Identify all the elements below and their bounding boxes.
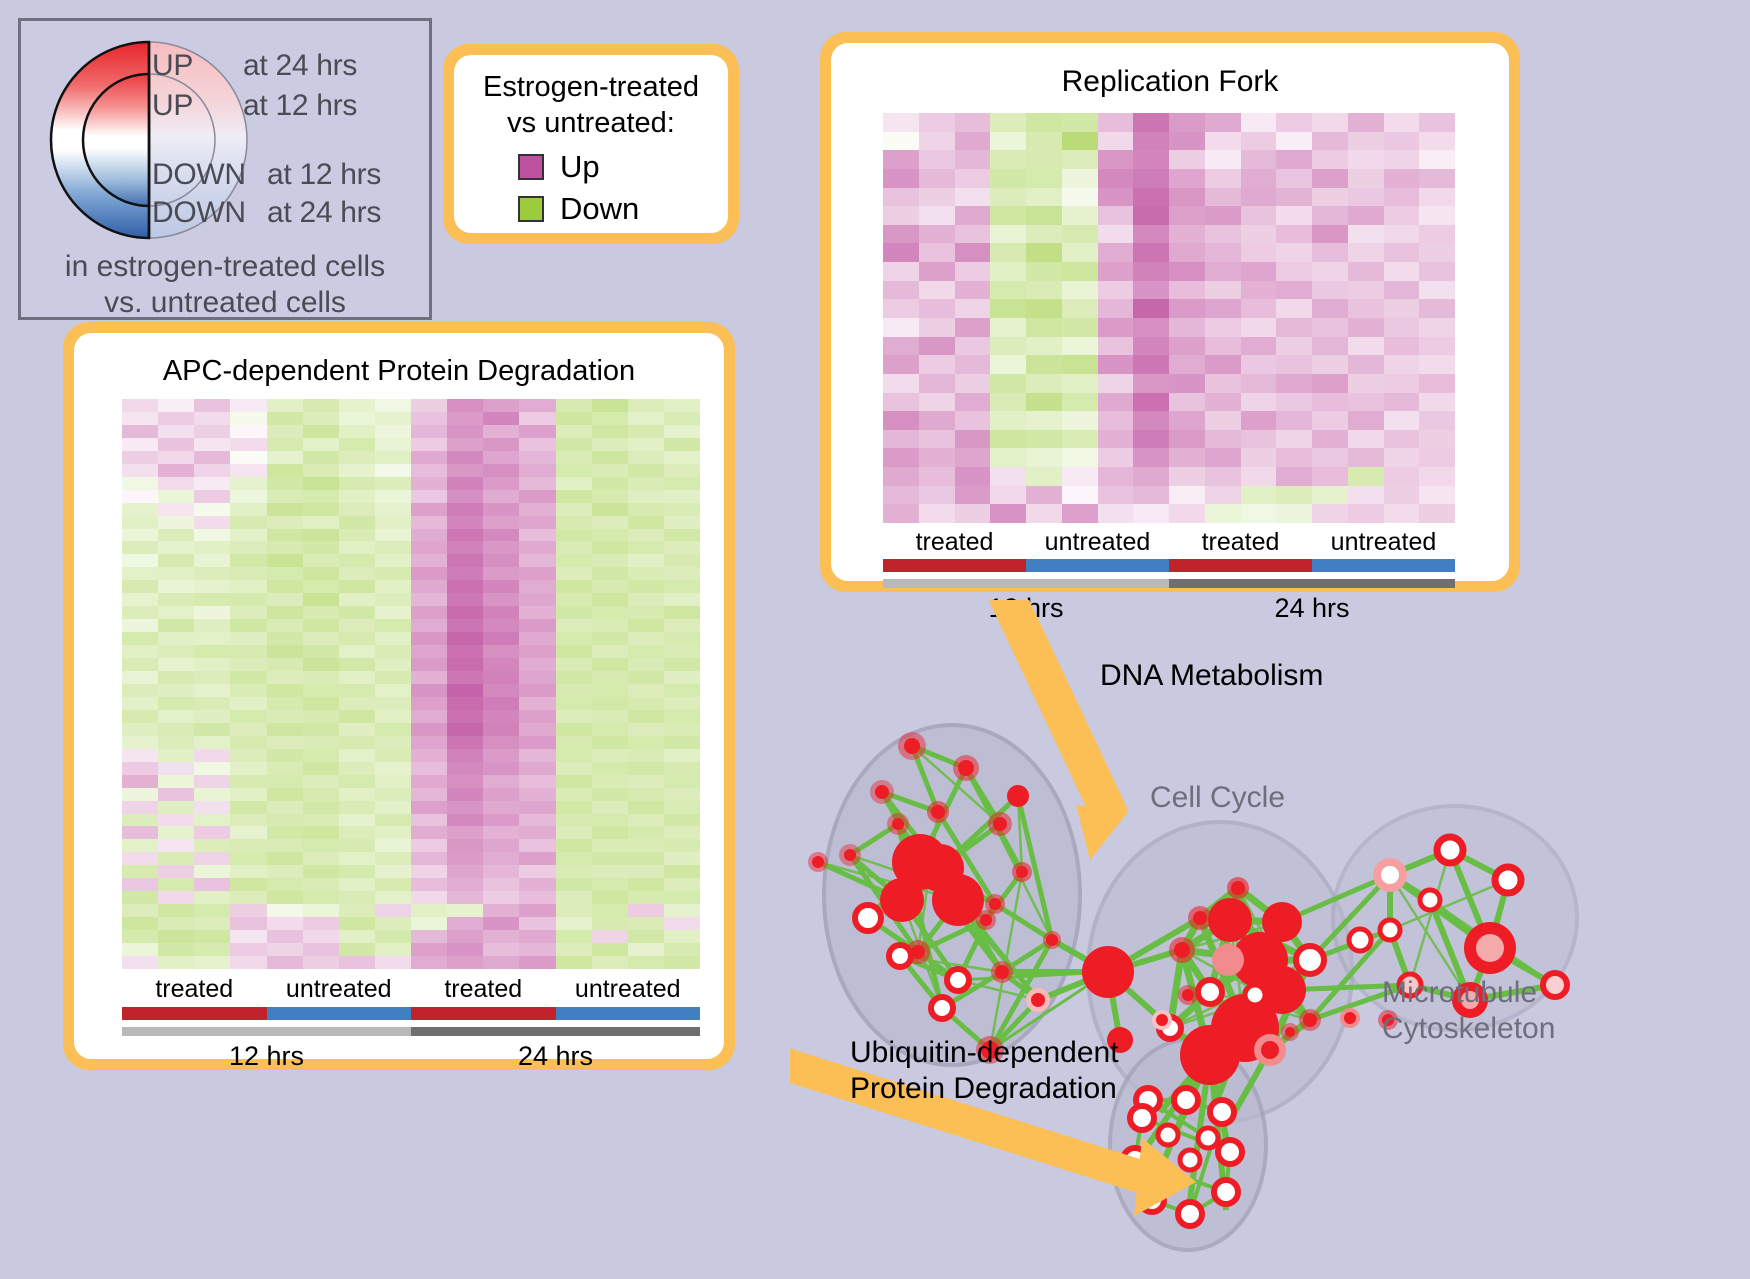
heatmap-cell bbox=[158, 852, 194, 865]
heatmap-cell bbox=[883, 188, 919, 207]
heatmap-cell bbox=[955, 448, 991, 467]
heatmap-cell bbox=[194, 762, 230, 775]
heatmap-cell bbox=[519, 567, 555, 580]
heatmap-cell bbox=[556, 529, 592, 542]
heatmap-cell bbox=[919, 299, 955, 318]
colorbar-footer: in estrogen-treated cells vs. untreated … bbox=[21, 249, 429, 321]
heatmap-cell bbox=[628, 904, 664, 917]
rf-cond-2: treated bbox=[1169, 528, 1312, 557]
heatmap-cell bbox=[955, 393, 991, 412]
heatmap-cell bbox=[883, 169, 919, 188]
heatmap-cell bbox=[158, 736, 194, 749]
heatmap-cell bbox=[664, 464, 700, 477]
heatmap-cell bbox=[664, 801, 700, 814]
heatmap-cell bbox=[883, 132, 919, 151]
heatmap-cell bbox=[592, 736, 628, 749]
heatmap-cell bbox=[1384, 281, 1420, 300]
heatmap-cell bbox=[194, 619, 230, 632]
heatmap-cell bbox=[411, 762, 447, 775]
heatmap-cell bbox=[1062, 393, 1098, 412]
heatmap-cell bbox=[556, 930, 592, 943]
heatmap-cell bbox=[1348, 113, 1384, 132]
heatmap-cell bbox=[339, 904, 375, 917]
heatmap-cell bbox=[1133, 225, 1169, 244]
heatmap-cell bbox=[1241, 337, 1277, 356]
heatmap-cell bbox=[483, 943, 519, 956]
heatmap-cell bbox=[447, 762, 483, 775]
heatmap-cell bbox=[411, 554, 447, 567]
heatmap-cell bbox=[1419, 299, 1455, 318]
heatmap-cell bbox=[447, 917, 483, 930]
heatmap-cell bbox=[628, 917, 664, 930]
heatmap-cell bbox=[122, 632, 158, 645]
heatmap-cell bbox=[411, 904, 447, 917]
heatmap-cell bbox=[664, 593, 700, 606]
heatmap-cell bbox=[519, 736, 555, 749]
heatmap-cell bbox=[1098, 355, 1134, 374]
heatmap-cell bbox=[339, 438, 375, 451]
heatmap-cell bbox=[519, 593, 555, 606]
heatmap-cell bbox=[628, 645, 664, 658]
heatmap-cell bbox=[519, 658, 555, 671]
apc-degradation-inner: APC-dependent Protein Degradation treate… bbox=[74, 333, 724, 1059]
heatmap-cell bbox=[375, 645, 411, 658]
heatmap-cell bbox=[990, 318, 1026, 337]
heatmap-cell bbox=[267, 503, 303, 516]
heatmap-cell bbox=[556, 749, 592, 762]
heatmap-cell bbox=[267, 619, 303, 632]
heatmap-cell bbox=[158, 606, 194, 619]
heatmap-cell bbox=[1384, 225, 1420, 244]
heatmap-cell bbox=[1098, 188, 1134, 207]
heatmap-cell bbox=[447, 891, 483, 904]
heatmap-cell bbox=[447, 878, 483, 891]
heatmap-cell bbox=[194, 826, 230, 839]
heatmap-cell bbox=[158, 723, 194, 736]
up-swatch-icon bbox=[518, 154, 544, 180]
heatmap-cell bbox=[955, 281, 991, 300]
heatmap-cell bbox=[1312, 169, 1348, 188]
heatmap-cell bbox=[1169, 188, 1205, 207]
heatmap-cell bbox=[1276, 188, 1312, 207]
heatmap-cell bbox=[1205, 150, 1241, 169]
heatmap-cell bbox=[158, 762, 194, 775]
heatmap-cell bbox=[519, 697, 555, 710]
heatmap-cell bbox=[919, 113, 955, 132]
heatmap-cell bbox=[483, 801, 519, 814]
heatmap-cell bbox=[628, 801, 664, 814]
heatmap-cell bbox=[556, 567, 592, 580]
heatmap-cell bbox=[1062, 113, 1098, 132]
heatmap-cell bbox=[519, 788, 555, 801]
heatmap-cell bbox=[267, 399, 303, 412]
heatmap-cell bbox=[1026, 132, 1062, 151]
heatmap-cell bbox=[592, 619, 628, 632]
rf-bar-treated-12 bbox=[883, 559, 1026, 572]
heatmap-cell bbox=[122, 567, 158, 580]
heatmap-cell bbox=[375, 801, 411, 814]
heatmap-cell bbox=[375, 878, 411, 891]
heatmap-cell bbox=[483, 464, 519, 477]
heatmap-cell bbox=[158, 503, 194, 516]
heatmap-cell bbox=[592, 516, 628, 529]
heatmap-cell bbox=[158, 826, 194, 839]
heatmap-cell bbox=[1169, 225, 1205, 244]
heatmap-cell bbox=[955, 150, 991, 169]
heatmap-cell bbox=[519, 801, 555, 814]
heatmap-cell bbox=[1348, 430, 1384, 449]
rf-cond-1: untreated bbox=[1026, 528, 1169, 557]
heatmap-cell bbox=[339, 775, 375, 788]
heatmap-cell bbox=[1384, 188, 1420, 207]
heatmap-cell bbox=[267, 839, 303, 852]
cluster-label-dna-metabolism: DNA Metabolism bbox=[1100, 658, 1323, 694]
heatmap-cell bbox=[303, 529, 339, 542]
heatmap-cell bbox=[122, 943, 158, 956]
heatmap-cell bbox=[339, 593, 375, 606]
heatmap-cell bbox=[1312, 318, 1348, 337]
heatmap-cell bbox=[122, 826, 158, 839]
heatmap-cell bbox=[158, 412, 194, 425]
heatmap-cell bbox=[592, 580, 628, 593]
heatmap-cell bbox=[339, 464, 375, 477]
heatmap-cell bbox=[1384, 430, 1420, 449]
heatmap-cell bbox=[919, 132, 955, 151]
heatmap-cell bbox=[1276, 243, 1312, 262]
heatmap-cell bbox=[447, 477, 483, 490]
heatmap-cell bbox=[990, 281, 1026, 300]
heatmap-cell bbox=[375, 762, 411, 775]
heatmap-cell bbox=[230, 684, 266, 697]
heatmap-cell bbox=[158, 930, 194, 943]
apc-timebar-12 bbox=[122, 1027, 411, 1036]
heatmap-cell bbox=[664, 412, 700, 425]
heatmap-cell bbox=[158, 878, 194, 891]
heatmap-cell bbox=[1062, 299, 1098, 318]
heatmap-cell bbox=[990, 486, 1026, 505]
heatmap-cell bbox=[1419, 374, 1455, 393]
heatmap-cell bbox=[664, 891, 700, 904]
heatmap-cell bbox=[194, 580, 230, 593]
heatmap-cell bbox=[519, 852, 555, 865]
heatmap-cell bbox=[339, 930, 375, 943]
heatmap-cell bbox=[339, 567, 375, 580]
heatmap-cell bbox=[483, 503, 519, 516]
heatmap-cell bbox=[1312, 225, 1348, 244]
heatmap-cell bbox=[194, 451, 230, 464]
heatmap-cell bbox=[519, 438, 555, 451]
heatmap-cell bbox=[411, 580, 447, 593]
heatmap-cell bbox=[664, 930, 700, 943]
heatmap-cell bbox=[267, 645, 303, 658]
rf-bar-treated-24 bbox=[1169, 559, 1312, 572]
heatmap-cell bbox=[1133, 243, 1169, 262]
heatmap-cell bbox=[1098, 411, 1134, 430]
heatmap-cell bbox=[375, 865, 411, 878]
heatmap-cell bbox=[1205, 318, 1241, 337]
heatmap-cell bbox=[303, 438, 339, 451]
heatmap-cell bbox=[519, 723, 555, 736]
heatmap-cell bbox=[592, 464, 628, 477]
heatmap-cell bbox=[267, 593, 303, 606]
heatmap-cell bbox=[303, 814, 339, 827]
heatmap-cell bbox=[1205, 113, 1241, 132]
heatmap-cell bbox=[955, 243, 991, 262]
heatmap-cell bbox=[194, 814, 230, 827]
heatmap-cell bbox=[556, 438, 592, 451]
heatmap-cell bbox=[194, 839, 230, 852]
heatmap-cell bbox=[339, 645, 375, 658]
heatmap-cell bbox=[122, 788, 158, 801]
heatmap-cell bbox=[1026, 486, 1062, 505]
heatmap-cell bbox=[1098, 150, 1134, 169]
heatmap-cell bbox=[955, 225, 991, 244]
heatmap-cell bbox=[230, 399, 266, 412]
heatmap-cell bbox=[1348, 262, 1384, 281]
heatmap-cell bbox=[483, 632, 519, 645]
heatmap-cell bbox=[1098, 132, 1134, 151]
apc-degradation-card: APC-dependent Protein Degradation treate… bbox=[63, 322, 735, 1070]
heatmap-cell bbox=[556, 425, 592, 438]
heatmap-cell bbox=[375, 451, 411, 464]
heatmap-cell bbox=[1312, 448, 1348, 467]
heatmap-cell bbox=[1062, 411, 1098, 430]
heatmap-cell bbox=[556, 658, 592, 671]
heatmap-cell bbox=[592, 541, 628, 554]
heatmap-cell bbox=[990, 504, 1026, 523]
heatmap-cell bbox=[1241, 188, 1277, 207]
heatmap-cell bbox=[1241, 504, 1277, 523]
heatmap-cell bbox=[1169, 355, 1205, 374]
heatmap-cell bbox=[194, 593, 230, 606]
heatmap-cell bbox=[483, 425, 519, 438]
heatmap-cell bbox=[339, 723, 375, 736]
replication-fork-condition-bar bbox=[883, 559, 1455, 572]
heatmap-cell bbox=[1419, 113, 1455, 132]
apc-time-labels: 12 hrs 24 hrs bbox=[122, 1041, 700, 1072]
heatmap-cell bbox=[194, 671, 230, 684]
heatmap-cell bbox=[483, 593, 519, 606]
heatmap-cell bbox=[1312, 243, 1348, 262]
heatmap-cell bbox=[375, 490, 411, 503]
heatmap-cell bbox=[411, 917, 447, 930]
heatmap-cell bbox=[411, 736, 447, 749]
heatmap-cell bbox=[483, 697, 519, 710]
heatmap-cell bbox=[158, 917, 194, 930]
heatmap-cell bbox=[375, 736, 411, 749]
heatmap-cell bbox=[339, 632, 375, 645]
heatmap-cell bbox=[122, 658, 158, 671]
heatmap-cell bbox=[592, 710, 628, 723]
heatmap-cell bbox=[339, 477, 375, 490]
heatmap-cell bbox=[556, 917, 592, 930]
heatmap-cell bbox=[122, 852, 158, 865]
heatmap-cell bbox=[375, 788, 411, 801]
heatmap-cell bbox=[375, 554, 411, 567]
apc-time-24: 24 hrs bbox=[411, 1041, 700, 1072]
heatmap-cell bbox=[1419, 169, 1455, 188]
heatmap-cell bbox=[483, 865, 519, 878]
heatmap-cell bbox=[592, 425, 628, 438]
heatmap-cell bbox=[592, 865, 628, 878]
heatmap-cell bbox=[1205, 206, 1241, 225]
heatmap-cell bbox=[447, 438, 483, 451]
heatmap-cell bbox=[411, 697, 447, 710]
heatmap-cell bbox=[122, 917, 158, 930]
heatmap-cell bbox=[592, 723, 628, 736]
heatmap-cell bbox=[664, 904, 700, 917]
heatmap-cell bbox=[194, 930, 230, 943]
heatmap-cell bbox=[267, 736, 303, 749]
heatmap-cell bbox=[483, 554, 519, 567]
heatmap-cell bbox=[230, 425, 266, 438]
heatmap-cell bbox=[375, 567, 411, 580]
heatmap-cell bbox=[1026, 504, 1062, 523]
heatmap-cell bbox=[411, 490, 447, 503]
heatmap-cell bbox=[483, 723, 519, 736]
heatmap-cell bbox=[1026, 169, 1062, 188]
heatmap-cell bbox=[1241, 318, 1277, 337]
heatmap-cell bbox=[483, 814, 519, 827]
heatmap-cell bbox=[122, 801, 158, 814]
heatmap-cell bbox=[519, 503, 555, 516]
heatmap-cell bbox=[1384, 113, 1420, 132]
heatmap-cell bbox=[592, 477, 628, 490]
heatmap-cell bbox=[664, 554, 700, 567]
heatmap-cell bbox=[919, 225, 955, 244]
heatmap-cell bbox=[1312, 299, 1348, 318]
heatmap-cell bbox=[628, 580, 664, 593]
heatmap-cell bbox=[1241, 132, 1277, 151]
cluster-label-cell-cycle: Cell Cycle bbox=[1150, 780, 1285, 816]
heatmap-cell bbox=[122, 697, 158, 710]
heatmap-cell bbox=[519, 554, 555, 567]
heatmap-cell bbox=[592, 451, 628, 464]
heatmap-cell bbox=[628, 852, 664, 865]
heatmap-cell bbox=[194, 956, 230, 969]
heatmap-cell bbox=[592, 503, 628, 516]
heatmap-cell bbox=[1312, 262, 1348, 281]
heatmap-cell bbox=[194, 554, 230, 567]
heatmap-cell bbox=[1133, 411, 1169, 430]
heatmap-cell bbox=[628, 658, 664, 671]
heatmap-cell bbox=[230, 412, 266, 425]
heatmap-cell bbox=[1169, 467, 1205, 486]
heatmap-cell bbox=[1133, 299, 1169, 318]
heatmap-cell bbox=[411, 516, 447, 529]
heatmap-cell bbox=[230, 852, 266, 865]
replication-fork-condition-labels: treated untreated treated untreated bbox=[883, 528, 1455, 557]
heatmap-cell bbox=[1169, 486, 1205, 505]
heatmap-cell bbox=[194, 852, 230, 865]
heatmap-cell bbox=[447, 567, 483, 580]
heatmap-cell bbox=[1348, 374, 1384, 393]
heatmap-cell bbox=[375, 917, 411, 930]
heatmap-cell bbox=[303, 826, 339, 839]
heatmap-cell bbox=[1205, 337, 1241, 356]
heatmap-cell bbox=[194, 503, 230, 516]
heatmap-cell bbox=[883, 150, 919, 169]
heatmap-cell bbox=[1169, 411, 1205, 430]
heatmap-cell bbox=[194, 490, 230, 503]
heatmap-cell bbox=[267, 826, 303, 839]
heatmap-cell bbox=[556, 541, 592, 554]
heatmap-cell bbox=[303, 865, 339, 878]
heatmap-cell bbox=[664, 956, 700, 969]
heatmap-cell bbox=[411, 645, 447, 658]
heatmap-cell bbox=[990, 113, 1026, 132]
heatmap-cell bbox=[267, 723, 303, 736]
heatmap-cell bbox=[339, 425, 375, 438]
heatmap-cell bbox=[1419, 393, 1455, 412]
heatmap-cell bbox=[1241, 374, 1277, 393]
heatmap-cell bbox=[628, 930, 664, 943]
heatmap-cell bbox=[519, 529, 555, 542]
heatmap-cell bbox=[411, 749, 447, 762]
heatmap-cell bbox=[919, 243, 955, 262]
heatmap-cell bbox=[990, 299, 1026, 318]
heatmap-cell bbox=[556, 788, 592, 801]
heatmap-cell bbox=[483, 516, 519, 529]
heatmap-cell bbox=[628, 412, 664, 425]
heatmap-cell bbox=[1276, 374, 1312, 393]
rf-timebar-12 bbox=[883, 579, 1169, 588]
heatmap-cell bbox=[1062, 374, 1098, 393]
heatmap-cell bbox=[556, 865, 592, 878]
heatmap-cell bbox=[122, 619, 158, 632]
replication-fork-time-bar bbox=[883, 579, 1455, 588]
heatmap-cell bbox=[194, 412, 230, 425]
heatmap-cell bbox=[664, 541, 700, 554]
heatmap-cell bbox=[1098, 113, 1134, 132]
heatmap-cell bbox=[411, 606, 447, 619]
heatmap-cell bbox=[411, 671, 447, 684]
heatmap-cell bbox=[1384, 337, 1420, 356]
heatmap-cell bbox=[1384, 243, 1420, 262]
heatmap-cell bbox=[194, 658, 230, 671]
heatmap-cell bbox=[1133, 206, 1169, 225]
heatmap-cell bbox=[411, 775, 447, 788]
heatmap-cell bbox=[1312, 393, 1348, 412]
heatmap-cell bbox=[664, 788, 700, 801]
heatmap-cell bbox=[1098, 225, 1134, 244]
heatmap-cell bbox=[592, 814, 628, 827]
heatmap-cell bbox=[556, 775, 592, 788]
heatmap-cell bbox=[447, 801, 483, 814]
heatmap-cell bbox=[267, 632, 303, 645]
heatmap-cell bbox=[519, 814, 555, 827]
heatmap-cell bbox=[1384, 393, 1420, 412]
heatmap-cell bbox=[1384, 467, 1420, 486]
heatmap-cell bbox=[1205, 504, 1241, 523]
heatmap-cell bbox=[556, 956, 592, 969]
heatmap-cell bbox=[628, 503, 664, 516]
heatmap-cell bbox=[447, 541, 483, 554]
heatmap-cell bbox=[955, 299, 991, 318]
heatmap-cell bbox=[303, 839, 339, 852]
heatmap-cell bbox=[122, 412, 158, 425]
heatmap-cell bbox=[158, 891, 194, 904]
heatmap-cell bbox=[919, 169, 955, 188]
heatmap-cell bbox=[194, 878, 230, 891]
heatmap-cell bbox=[303, 580, 339, 593]
heatmap-cell bbox=[628, 593, 664, 606]
heatmap-cell bbox=[339, 878, 375, 891]
heatmap-cell bbox=[122, 671, 158, 684]
heatmap-cell bbox=[919, 448, 955, 467]
heatmap-cell bbox=[664, 736, 700, 749]
heatmap-cell bbox=[230, 814, 266, 827]
